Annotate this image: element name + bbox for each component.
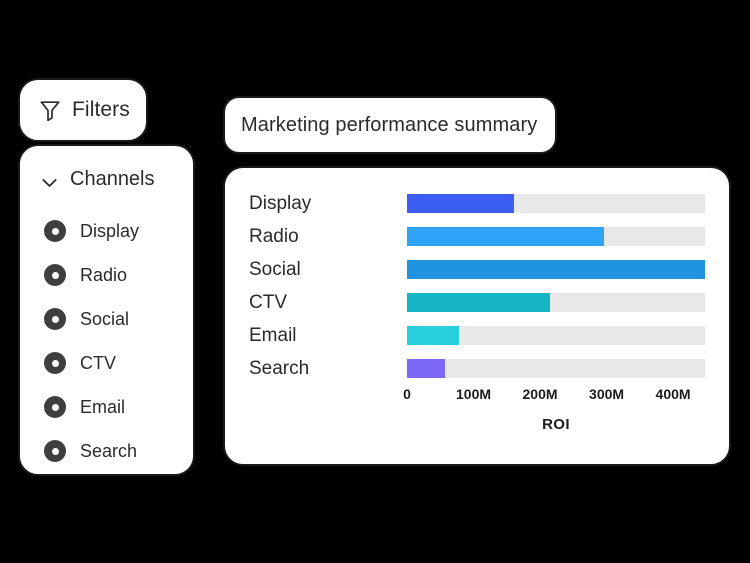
radio-button-icon[interactable] — [44, 396, 66, 418]
filters-button[interactable]: Filters — [18, 78, 148, 142]
bar-track — [407, 326, 705, 345]
bar-category-label: Radio — [249, 227, 407, 246]
bar-track — [407, 260, 705, 279]
bar-row: Display — [249, 190, 705, 216]
bar-category-label: Social — [249, 260, 407, 279]
radio-button-icon[interactable] — [44, 352, 66, 374]
bar-fill[interactable] — [407, 194, 514, 213]
radio-button-icon[interactable] — [44, 440, 66, 462]
radio-button-icon[interactable] — [44, 308, 66, 330]
x-axis-tick: 100M — [456, 386, 491, 402]
bar-chart: 0100M200M300M400M ROI DisplayRadioSocial… — [225, 168, 729, 464]
x-axis-tick: 400M — [656, 386, 691, 402]
bar-category-label: Search — [249, 359, 407, 378]
page-title: Marketing performance summary — [241, 114, 537, 137]
filters-label: Filters — [72, 98, 130, 122]
channels-header-label: Channels — [70, 168, 155, 191]
x-axis-tick: 0 — [403, 386, 411, 402]
channels-panel: Channels DisplayRadioSocialCTVEmailSearc… — [18, 144, 195, 476]
channel-item-label: Display — [80, 221, 139, 242]
chevron-down-icon — [42, 175, 57, 185]
channel-item[interactable]: Search — [20, 429, 193, 473]
chart-title-card: Marketing performance summary — [223, 96, 557, 154]
x-axis-title: ROI — [407, 416, 705, 433]
channel-list: DisplayRadioSocialCTVEmailSearch — [20, 209, 193, 473]
bar-row: Social — [249, 256, 705, 282]
bar-fill[interactable] — [407, 326, 459, 345]
radio-button-icon[interactable] — [44, 220, 66, 242]
channel-item-label: Email — [80, 397, 125, 418]
screen: Filters Channels DisplayRadioSocialCTVEm… — [0, 0, 750, 563]
bar-row: CTV — [249, 289, 705, 315]
bar-fill[interactable] — [407, 293, 550, 312]
channel-item[interactable]: Email — [20, 385, 193, 429]
x-axis-tick: 300M — [589, 386, 624, 402]
x-axis: 0100M200M300M400M — [407, 386, 705, 408]
funnel-icon — [40, 100, 60, 121]
bar-row: Email — [249, 322, 705, 348]
bar-category-label: Display — [249, 194, 407, 213]
bar-row: Search — [249, 355, 705, 381]
x-axis-tick: 200M — [523, 386, 558, 402]
channel-item[interactable]: Display — [20, 209, 193, 253]
channel-item-label: Radio — [80, 265, 127, 286]
bar-row: Radio — [249, 223, 705, 249]
bar-track — [407, 194, 705, 213]
bar-track — [407, 227, 705, 246]
channel-item-label: Search — [80, 441, 137, 462]
bar-category-label: CTV — [249, 293, 407, 312]
channel-item[interactable]: CTV — [20, 341, 193, 385]
bar-fill[interactable] — [407, 227, 604, 246]
channel-item[interactable]: Social — [20, 297, 193, 341]
radio-button-icon[interactable] — [44, 264, 66, 286]
bar-track — [407, 359, 705, 378]
channel-item[interactable]: Radio — [20, 253, 193, 297]
channel-item-label: CTV — [80, 353, 116, 374]
bar-fill[interactable] — [407, 260, 705, 279]
channel-item-label: Social — [80, 309, 129, 330]
bar-fill[interactable] — [407, 359, 445, 378]
bar-category-label: Email — [249, 326, 407, 345]
chart-card: 0100M200M300M400M ROI DisplayRadioSocial… — [223, 166, 731, 466]
bar-track — [407, 293, 705, 312]
channels-header[interactable]: Channels — [20, 146, 193, 191]
